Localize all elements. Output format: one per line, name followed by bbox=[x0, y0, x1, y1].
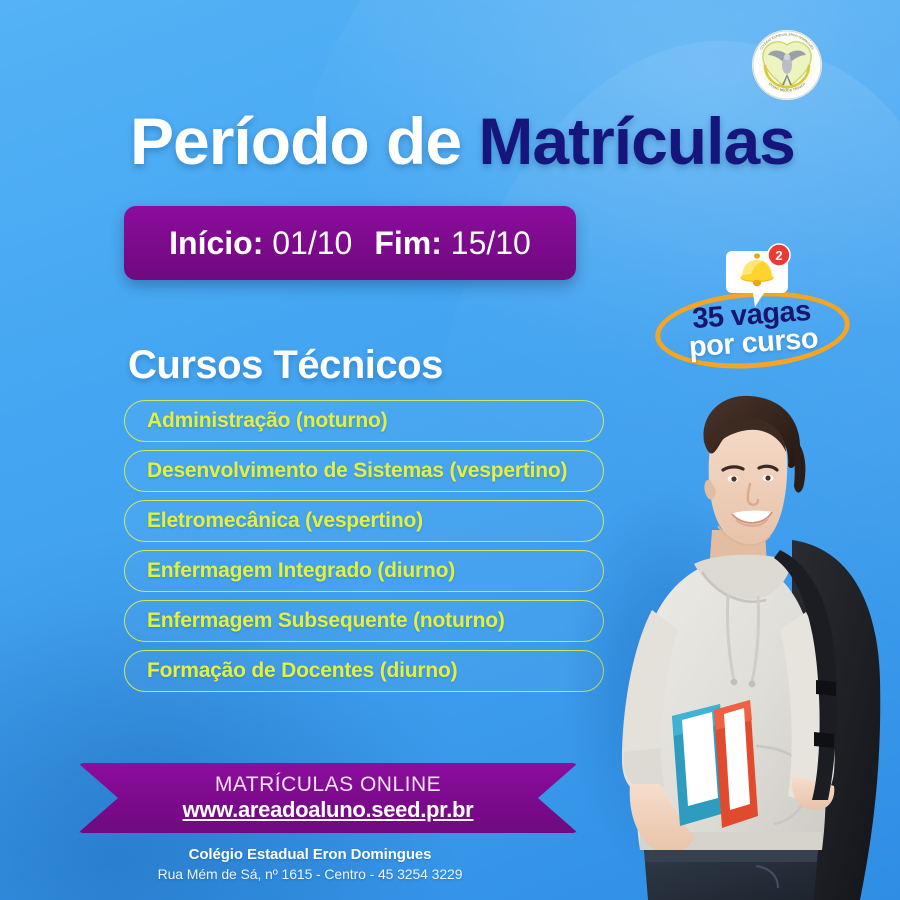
course-label: Eletromecânica (vespertino) bbox=[147, 509, 423, 533]
ribbon-heading: MATRÍCULAS ONLINE bbox=[215, 773, 441, 797]
bell-notification-icon: 2 bbox=[718, 243, 796, 311]
student-photo bbox=[560, 380, 900, 900]
course-label: Administração (noturno) bbox=[147, 409, 387, 433]
course-pill-administracao[interactable]: Administração (noturno) bbox=[124, 400, 604, 442]
school-name: Colégio Estadual Eron Domingues bbox=[0, 845, 620, 865]
course-pill-formacao-docentes[interactable]: Formação de Docentes (diurno) bbox=[124, 650, 604, 692]
online-enrollment-ribbon: MATRÍCULAS ONLINE www.areadoaluno.seed.p… bbox=[78, 763, 578, 833]
backpack-strap bbox=[774, 550, 837, 800]
start-date-value: 01/10 bbox=[272, 225, 352, 261]
books bbox=[672, 700, 758, 828]
footer-info: Colégio Estadual Eron Domingues Rua Mém … bbox=[0, 845, 620, 884]
jeans bbox=[644, 850, 818, 900]
bell-badge-count: 2 bbox=[775, 248, 782, 263]
course-pill-enfermagem-integrado[interactable]: Enfermagem Integrado (diurno) bbox=[124, 550, 604, 592]
start-date: Início: 01/10 bbox=[169, 225, 352, 262]
page-title-part1: Período de bbox=[130, 104, 461, 178]
course-pill-enfermagem-subsequente[interactable]: Enfermagem Subsequente (noturno) bbox=[124, 600, 604, 642]
hand-right bbox=[792, 776, 835, 810]
page-title: Período de Matrículas bbox=[130, 108, 850, 174]
course-label: Enfermagem Integrado (diurno) bbox=[147, 559, 455, 583]
course-pill-eletromecanica[interactable]: Eletromecânica (vespertino) bbox=[124, 500, 604, 542]
course-label: Enfermagem Subsequente (noturno) bbox=[147, 609, 505, 633]
end-date-label: Fim: bbox=[374, 225, 442, 261]
face bbox=[709, 409, 787, 545]
school-crest-logo: COLÉGIO ESTADUAL ERON DOMINGUES ENSINO M… bbox=[751, 29, 823, 101]
course-label: Formação de Docentes (diurno) bbox=[147, 659, 457, 683]
course-label: Desenvolvimento de Sistemas (vespertino) bbox=[147, 459, 567, 483]
end-date: Fim: 15/10 bbox=[374, 225, 531, 262]
courses-list: Administração (noturno) Desenvolvimento … bbox=[124, 400, 604, 692]
enrollment-url-link[interactable]: www.areadoaluno.seed.pr.br bbox=[183, 797, 474, 823]
poster-canvas: COLÉGIO ESTADUAL ERON DOMINGUES ENSINO M… bbox=[0, 0, 900, 900]
courses-section-title: Cursos Técnicos bbox=[128, 343, 443, 388]
school-address: Rua Mém de Sá, nº 1615 - Centro - 45 325… bbox=[0, 865, 620, 884]
course-pill-desenvolvimento-sistemas[interactable]: Desenvolvimento de Sistemas (vespertino) bbox=[124, 450, 604, 492]
hoodie bbox=[634, 556, 826, 850]
backpack bbox=[792, 540, 880, 900]
hair bbox=[704, 396, 801, 468]
hand-left bbox=[630, 784, 694, 854]
end-date-value: 15/10 bbox=[451, 225, 531, 261]
start-date-label: Início: bbox=[169, 225, 263, 261]
page-title-part2: Matrículas bbox=[478, 104, 794, 178]
vagas-scope-label: por curso bbox=[688, 325, 819, 361]
enrollment-dates-banner: Início: 01/10 Fim: 15/10 bbox=[124, 206, 576, 280]
